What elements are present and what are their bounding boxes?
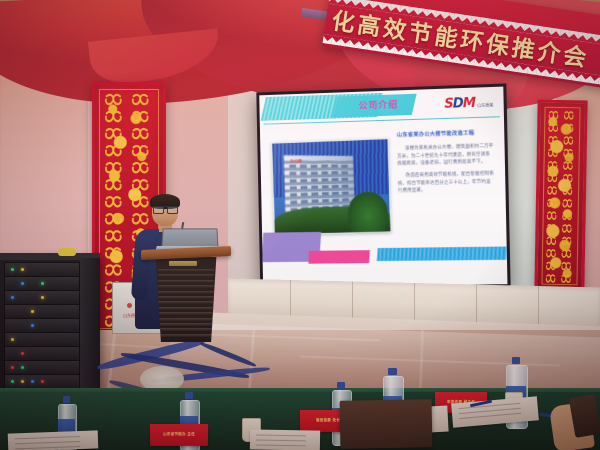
rack-side-door: [80, 258, 100, 403]
podium-nameplate: [169, 261, 197, 266]
status-led-icon: [11, 366, 14, 369]
podium-slat: [158, 269, 213, 272]
status-led-icon: [21, 352, 24, 355]
bottle-cap: [512, 357, 521, 364]
podium-slat: [158, 296, 213, 299]
status-led-icon: [41, 380, 44, 383]
podium-slat: [158, 274, 213, 277]
paper-text-line: [255, 444, 305, 446]
podium-slat: [158, 323, 213, 326]
rack-unit: [4, 318, 80, 333]
podium-slat: [158, 291, 213, 294]
podium-slat: [158, 307, 213, 310]
status-led-icon: [11, 296, 14, 299]
paper-text-line: [256, 439, 306, 441]
podium-body: [153, 257, 219, 342]
paper-text-line: [256, 434, 306, 436]
rack-knob: [58, 248, 76, 256]
status-led-icon: [31, 324, 34, 327]
name-card-text: 山东省节能办 主任: [163, 432, 195, 437]
leather-portfolio: [340, 399, 433, 449]
podium-slat: [158, 301, 213, 304]
status-led-icon: [41, 296, 44, 299]
paper-text-line: [15, 441, 80, 444]
table-name-card: 山东省节能办 主任: [150, 424, 208, 446]
status-led-icon: [11, 338, 14, 341]
podium-slat: [158, 280, 213, 283]
paper-text-line: [15, 436, 80, 439]
paper-text-line: [459, 413, 521, 419]
av-equipment-rack: [0, 258, 100, 403]
podium-slat: [158, 318, 213, 321]
status-led-icon: [21, 380, 24, 383]
rack-unit: [4, 374, 80, 389]
document-paper: [250, 429, 320, 450]
podium-slat: [158, 285, 213, 288]
rack-unit: [4, 304, 80, 319]
bottle-cap: [388, 368, 396, 375]
podium-slat: [158, 334, 213, 337]
projection-screen: 公司介绍 S D M 山东德美 办公楼 山东省某办公大楼节能改造工程: [256, 83, 510, 288]
glasses-bridge-icon: [153, 206, 177, 212]
gold-scroll-ornament: [543, 109, 578, 284]
rack-unit: [4, 360, 80, 375]
rack-unit: [4, 262, 80, 277]
status-led-icon: [21, 366, 24, 369]
name-card-text: 省经信委 处长: [316, 418, 340, 423]
document-paper: [8, 430, 99, 450]
bottle-cap: [337, 382, 345, 389]
conference-hall-photo: 化高效节能环保推介会 公司介绍 S D M 山东德美: [0, 0, 600, 450]
bottle-cap: [185, 392, 193, 399]
decor-panel-right: [534, 100, 587, 293]
slide-content: 公司介绍 S D M 山东德美 办公楼 山东省某办公大楼节能改造工程: [259, 87, 507, 286]
status-led-icon: [11, 380, 14, 383]
podium-slat: [158, 328, 213, 331]
screen-glare: [259, 87, 507, 286]
wall-box-indicator: [127, 303, 132, 308]
podium-top-surface: [141, 246, 231, 260]
bottle-cap: [63, 396, 70, 403]
podium-slat: [158, 312, 213, 315]
rack-unit: [4, 290, 80, 305]
speaker-podium: [147, 248, 225, 342]
status-led-icon: [41, 282, 44, 285]
status-led-icon: [21, 282, 24, 285]
paper-text-line: [15, 446, 80, 449]
status-led-icon: [11, 268, 14, 271]
rack-unit: [4, 276, 80, 291]
status-led-icon: [31, 380, 34, 383]
status-led-icon: [21, 268, 24, 271]
rack-unit: [4, 332, 80, 347]
decor-panel-right-swirls: [543, 109, 578, 284]
stage-panel-seam: [476, 285, 477, 325]
rack-unit: [4, 346, 80, 361]
stage-panel-seam: [290, 280, 291, 320]
stage-panel-seam: [538, 286, 539, 326]
stage-panel-seam: [414, 283, 415, 323]
stage-panel-seam: [352, 281, 353, 321]
status-led-icon: [31, 310, 34, 313]
